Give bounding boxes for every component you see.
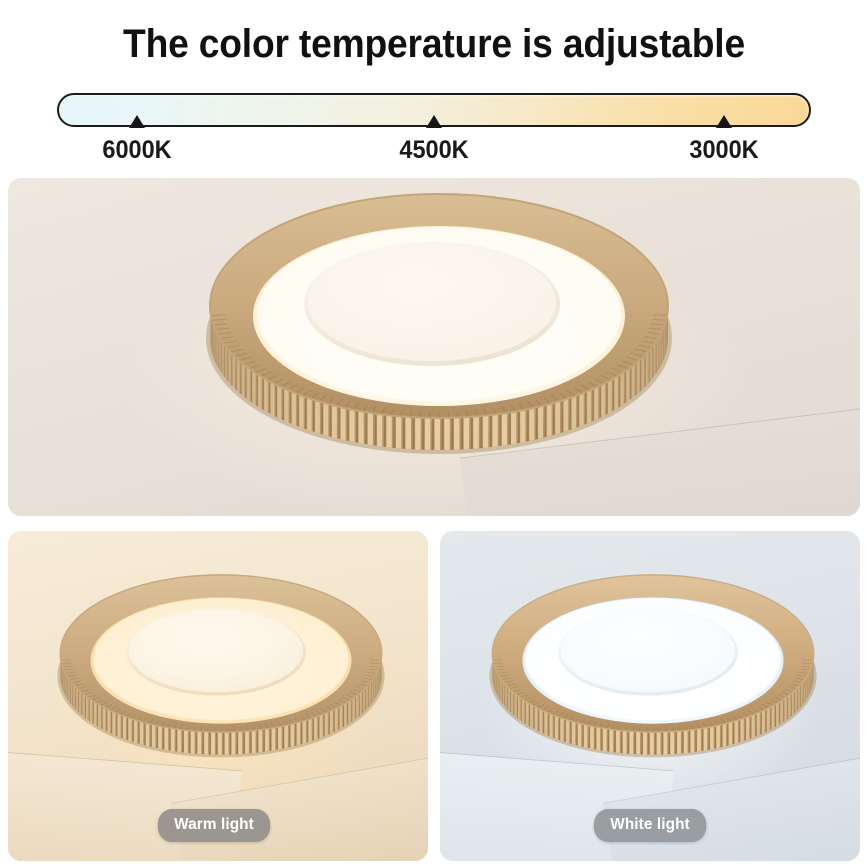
white-light-photo: White light	[440, 531, 860, 861]
warm-light-photo: Warm light	[8, 531, 428, 861]
scale-label-row: 6000K 4500K 3000K	[0, 136, 868, 168]
scale-label-6000k: 6000K	[102, 136, 171, 165]
scale-marker-6000k	[129, 115, 145, 128]
ceiling-lamp-warm	[56, 563, 386, 803]
scale-marker-4500k	[426, 115, 442, 128]
scale-label-3000k: 3000K	[689, 136, 758, 165]
scale-label-4500k: 4500K	[399, 136, 468, 165]
neutral-light-photo: Neutral light	[8, 178, 860, 516]
ceiling-lamp-neutral	[204, 188, 674, 508]
ceiling-lamp-white	[488, 563, 818, 803]
color-temperature-scale	[57, 93, 811, 127]
status-badge-warm: Warm light	[158, 809, 270, 842]
scale-marker-3000k	[716, 115, 732, 128]
status-badge-white: White light	[594, 809, 706, 842]
page-title: The color temperature is adjustable	[30, 22, 837, 67]
